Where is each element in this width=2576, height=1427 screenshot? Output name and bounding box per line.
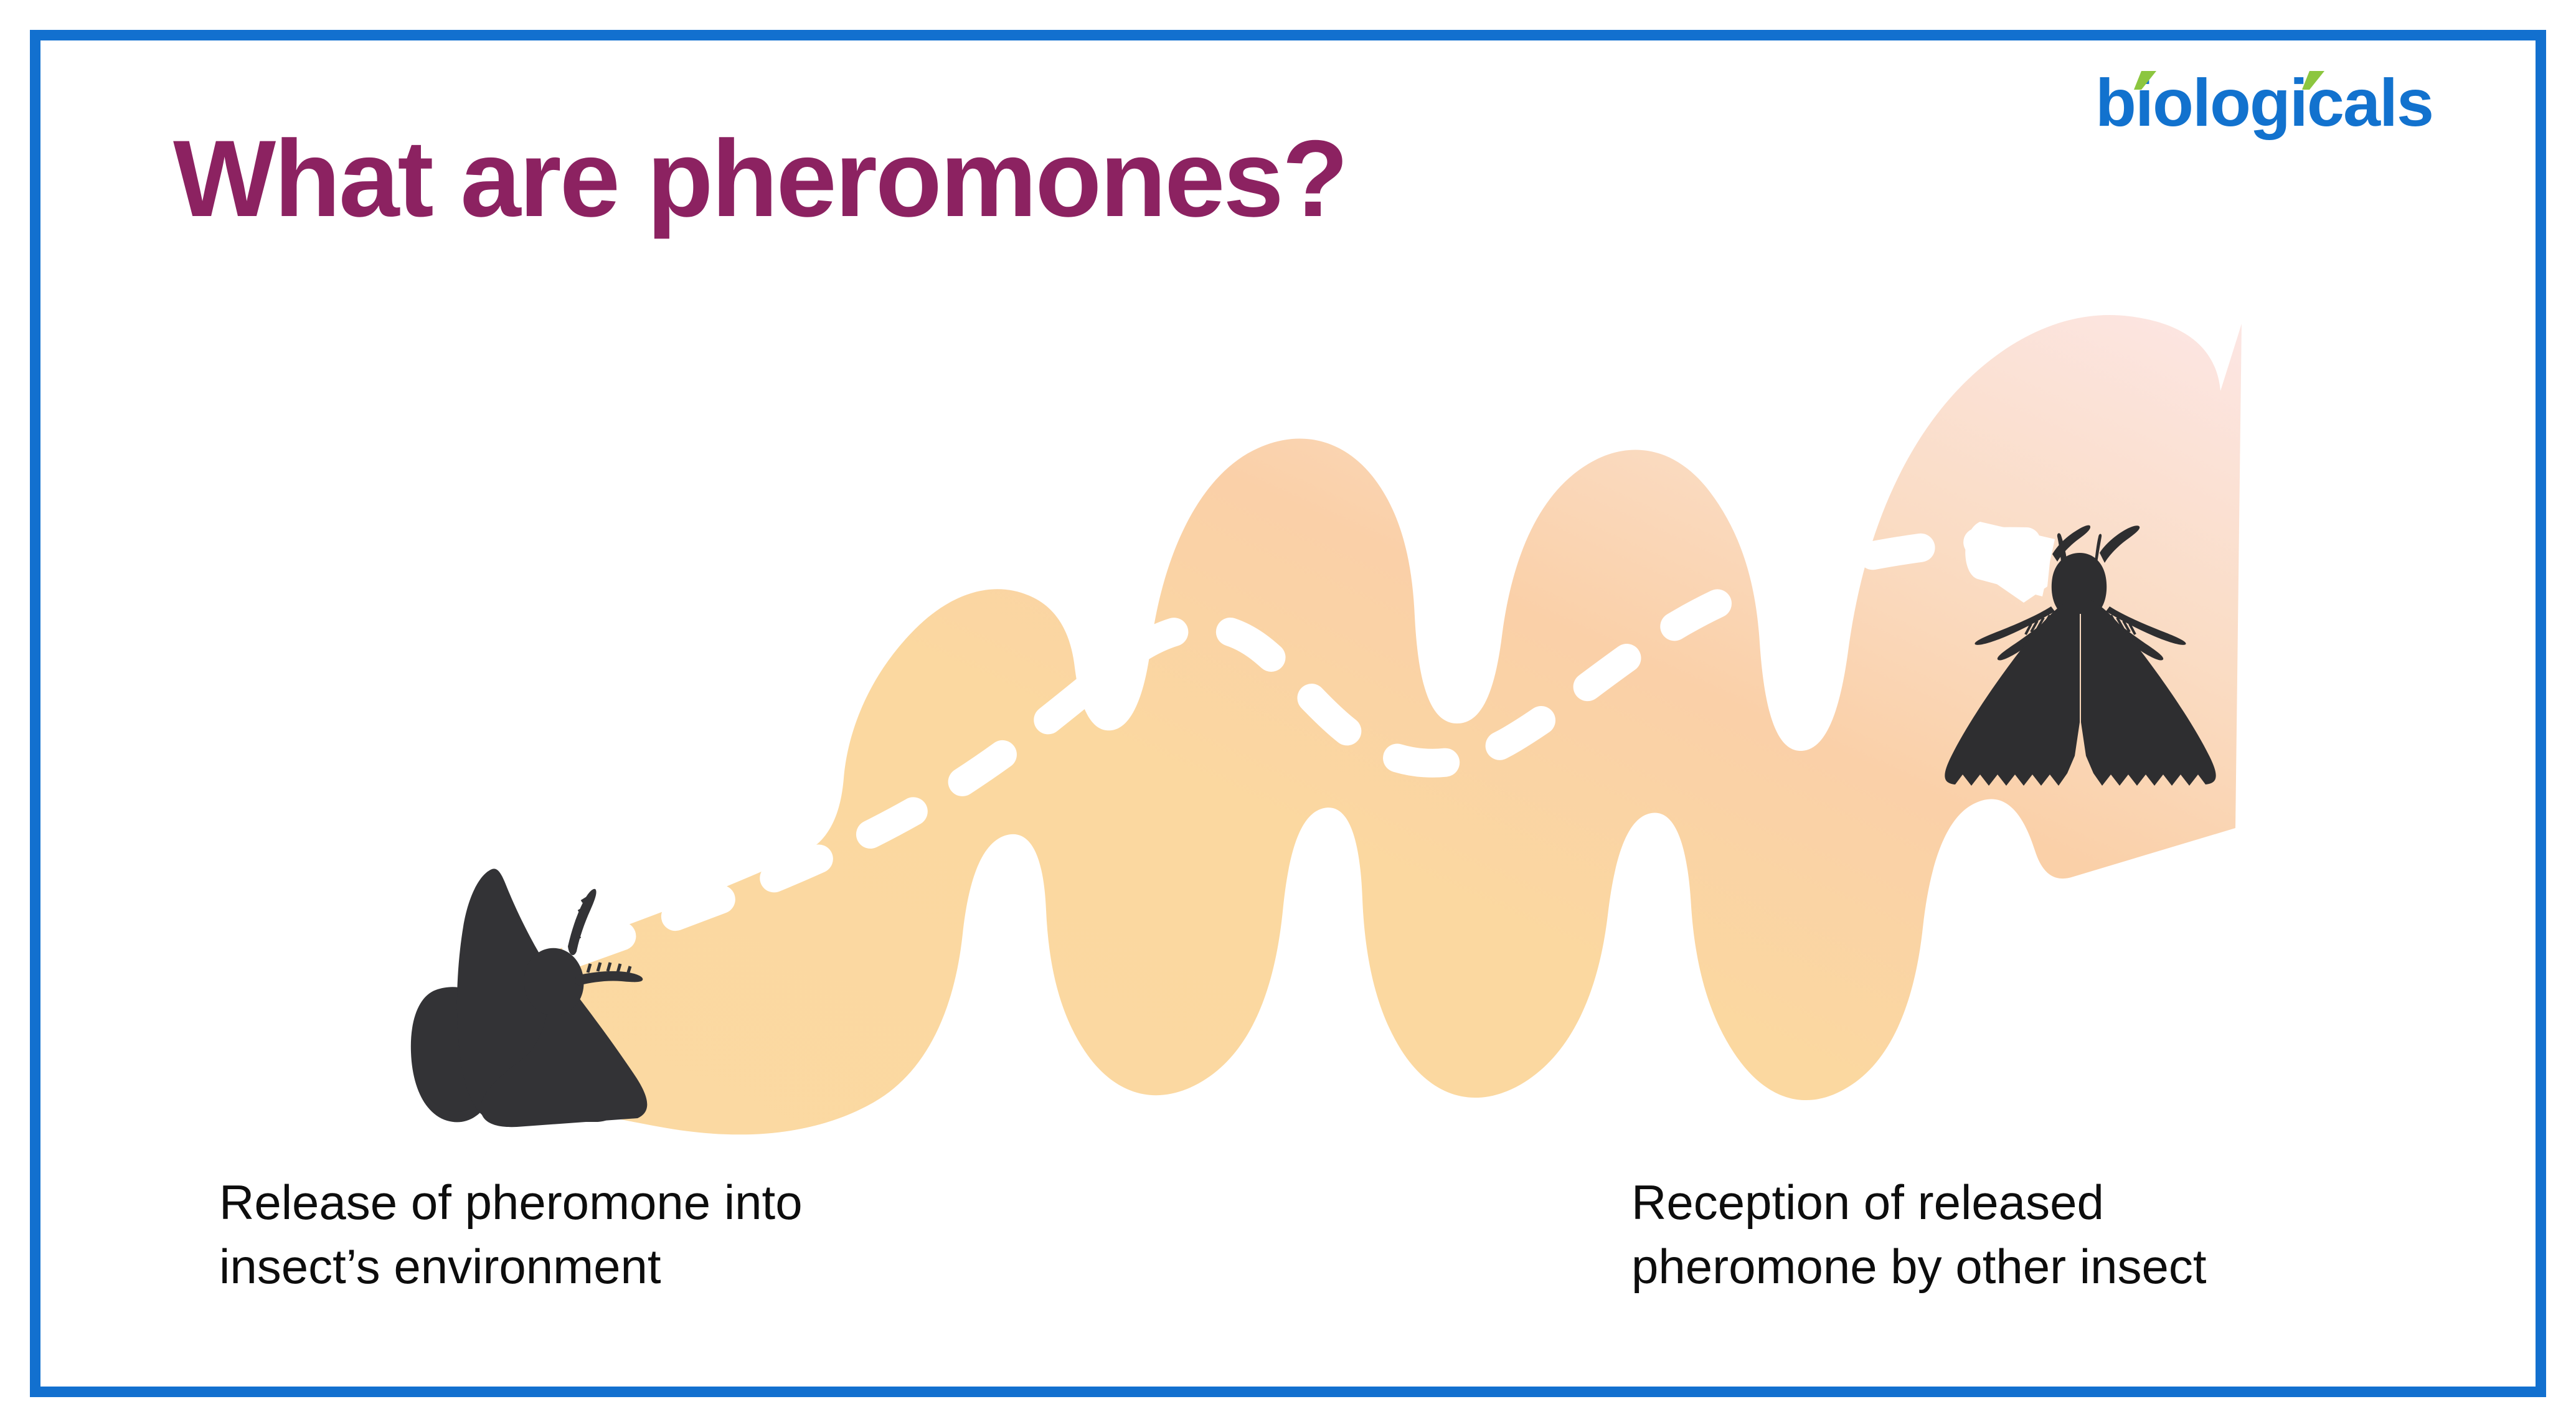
biologicals-logo[interactable]: biologicals: [2095, 61, 2469, 142]
infographic-canvas: What are pheromones? biologicals Release…: [0, 0, 2576, 1427]
page-title: What are pheromones?: [173, 125, 1347, 233]
caption-release: Release of pheromone into insect’s envir…: [219, 1170, 803, 1299]
caption-reception: Reception of released pheromone by other…: [1631, 1170, 2207, 1299]
